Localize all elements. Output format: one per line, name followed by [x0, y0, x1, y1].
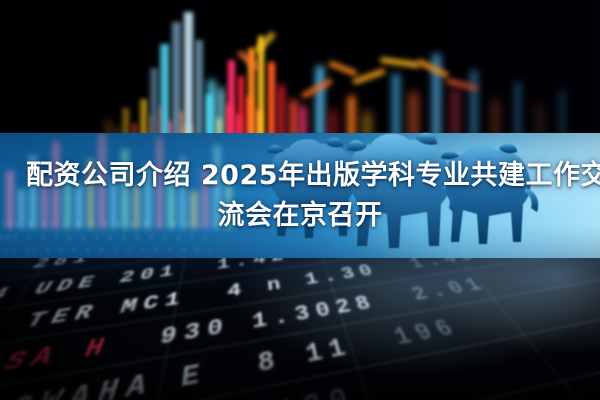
candlestick-bar [470, 70, 478, 140]
ticker-cell: 8 11 [257, 333, 357, 381]
ticker-cell: 196 [390, 315, 467, 353]
candlestick-chart-background [0, 0, 600, 140]
ticker-board-perspective: 0.9115.0199+2.40.9833800211.82+0.711.41.… [0, 258, 600, 400]
candlestick-bar [278, 85, 284, 140]
news-thumbnail-image: 1111 0 11 1 3 3 0 9 0 9 1 0 1 1000 0 3 3… [0, 0, 600, 400]
ticker-cell: 2.01 [408, 274, 494, 306]
trendline-segment [352, 68, 386, 84]
trendline-segment [328, 61, 358, 77]
candlestick-bar [172, 22, 181, 140]
candlestick-bar [184, 12, 193, 140]
headline-line-1: 配资公司介绍 2025年出版学科专业共建工作交 [26, 156, 574, 196]
candlestick-bar [228, 60, 235, 140]
ticker-cell: 0.88 [320, 258, 391, 259]
ticker-cell: 281 [27, 258, 96, 273]
candlestick-bar [268, 62, 275, 140]
candlestick-bar [150, 68, 158, 140]
ticker-cell: 330 [274, 381, 362, 400]
candlestick-bar [208, 80, 215, 140]
candlestick-bar [238, 76, 244, 140]
band-ticker-row: 11 11 9 0 0 5 5 1 2 2 0 9 0 0 1 [4, 247, 215, 256]
candlestick-bar [160, 44, 169, 140]
candlestick-bar [392, 74, 400, 140]
ticker-cell: 1.42 [216, 258, 290, 274]
candlestick-bar [514, 82, 522, 140]
trendline-segment [380, 57, 420, 68]
candlestick-bar [195, 40, 203, 140]
stock-ticker-board: 0.9115.0199+2.40.9833800211.82+0.711.41.… [0, 258, 600, 400]
candlestick-bar [316, 66, 324, 140]
headline-block: 配资公司介绍 2025年出版学科专业共建工作交 流会在京召开 [0, 156, 600, 236]
headline-line-2: 流会在京召开 [26, 196, 574, 236]
